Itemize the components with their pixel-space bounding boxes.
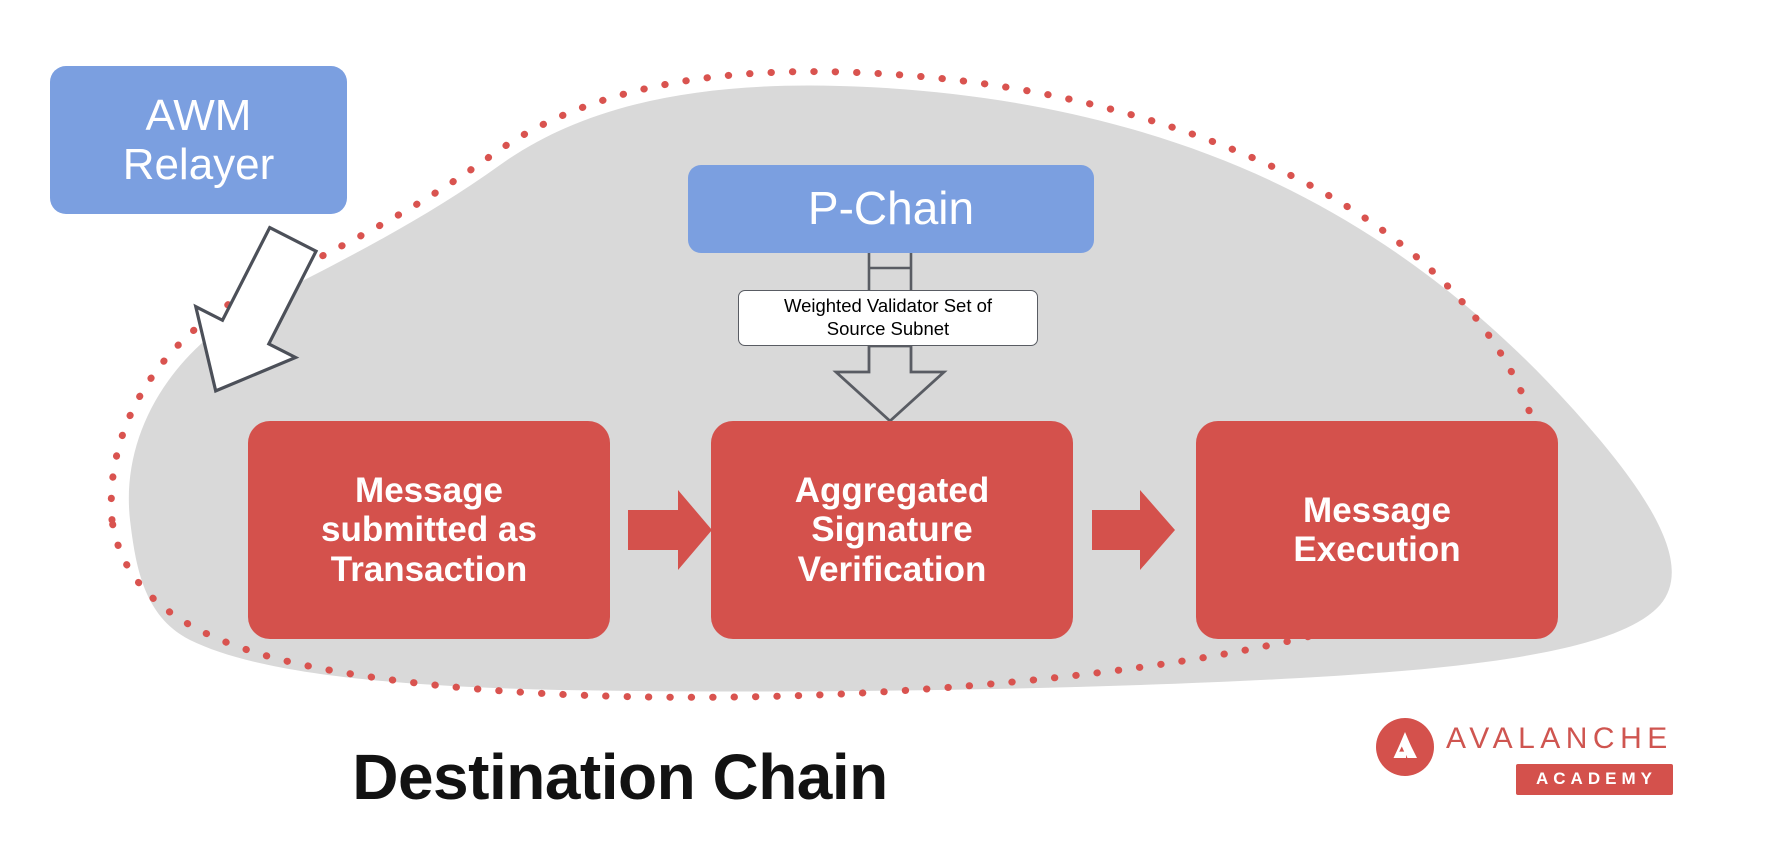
avalanche-wordmark: AVALANCHE (1446, 722, 1673, 756)
message-submitted-line-1: Message (321, 471, 537, 510)
aggregated-signature-line-3: Verification (795, 550, 989, 589)
avalanche-academy-logo: AVALANCHE ACADEMY (1376, 712, 1666, 796)
academy-badge-label: ACADEMY (1536, 769, 1657, 788)
academy-badge: ACADEMY (1516, 764, 1673, 795)
page-title: Destination Chain (0, 740, 1240, 814)
aggregated-signature-line-1: Aggregated (795, 471, 989, 510)
aggregated-signature-line-2: Signature (795, 510, 989, 549)
awm-relayer-line-1: AWM (123, 91, 275, 140)
p-chain-label: P-Chain (808, 183, 974, 235)
message-submitted-line-3: Transaction (321, 550, 537, 589)
node-message-execution[interactable]: Message Execution (1196, 421, 1558, 639)
node-p-chain[interactable]: P-Chain (688, 165, 1094, 253)
avalanche-logo-mark-icon (1376, 718, 1434, 776)
node-message-submitted-as-transaction[interactable]: Message submitted as Transaction (248, 421, 610, 639)
diagram-canvas: AWM Relayer P-Chain Weighted Validator S… (0, 0, 1792, 848)
node-awm-relayer[interactable]: AWM Relayer (50, 66, 347, 214)
validator-set-line-1: Weighted Validator Set of (784, 295, 992, 318)
message-execution-line-2: Execution (1293, 530, 1460, 569)
validator-set-line-2: Source Subnet (784, 318, 992, 341)
message-execution-line-1: Message (1293, 491, 1460, 530)
node-aggregated-signature-verification[interactable]: Aggregated Signature Verification (711, 421, 1073, 639)
message-submitted-line-2: submitted as (321, 510, 537, 549)
awm-relayer-line-2: Relayer (123, 140, 275, 189)
node-weighted-validator-set[interactable]: Weighted Validator Set of Source Subnet (738, 290, 1038, 346)
